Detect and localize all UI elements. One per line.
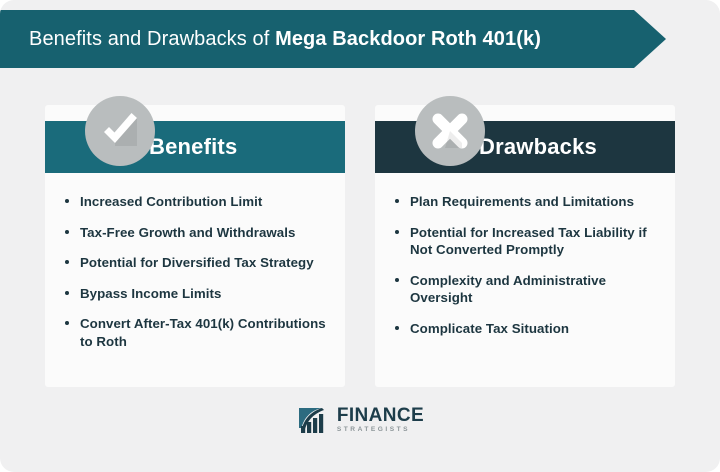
header-banner: Benefits and Drawbacks of Mega Backdoor … [0,10,666,68]
footer: FINANCE STRATEGISTS [0,404,720,436]
list-item: Bypass Income Limits [63,285,331,303]
list-item: Potential for Increased Tax Liability if… [393,224,661,259]
list-item: Complicate Tax Situation [393,320,661,338]
page-title-bold: Mega Backdoor Roth 401(k) [275,28,541,50]
list-item: Tax-Free Growth and Withdrawals [63,224,331,242]
benefits-list: Increased Contribution Limit Tax-Free Gr… [63,193,331,363]
x-circle-icon [415,96,485,166]
page-title: Benefits and Drawbacks of Mega Backdoor … [0,28,541,51]
brand-name: FINANCE [337,406,424,425]
list-item: Complexity and Administrative Oversight [393,272,661,307]
comparison-cards: Benefits Increased Contribution Limit Ta… [0,105,720,387]
list-item: Plan Requirements and Limitations [393,193,661,211]
check-circle-icon [85,96,155,166]
drawbacks-card: Drawbacks Plan Requirements and Limitati… [375,105,675,387]
benefits-card: Benefits Increased Contribution Limit Ta… [45,105,345,387]
infographic-page: Benefits and Drawbacks of Mega Backdoor … [0,0,720,472]
drawbacks-title: Drawbacks [479,134,597,160]
list-item: Convert After-Tax 401(k) Contributions t… [63,315,331,350]
list-item: Potential for Diversified Tax Strategy [63,254,331,272]
drawbacks-list: Plan Requirements and Limitations Potent… [393,193,661,350]
brand-tagline: STRATEGISTS [337,427,424,434]
chart-arc-logo-icon [296,404,332,436]
brand-logo: FINANCE STRATEGISTS [296,404,424,436]
benefits-title: Benefits [149,134,237,160]
brand-logo-text: FINANCE STRATEGISTS [337,406,424,434]
list-item: Increased Contribution Limit [63,193,331,211]
page-title-normal: Benefits and Drawbacks of [29,28,275,50]
